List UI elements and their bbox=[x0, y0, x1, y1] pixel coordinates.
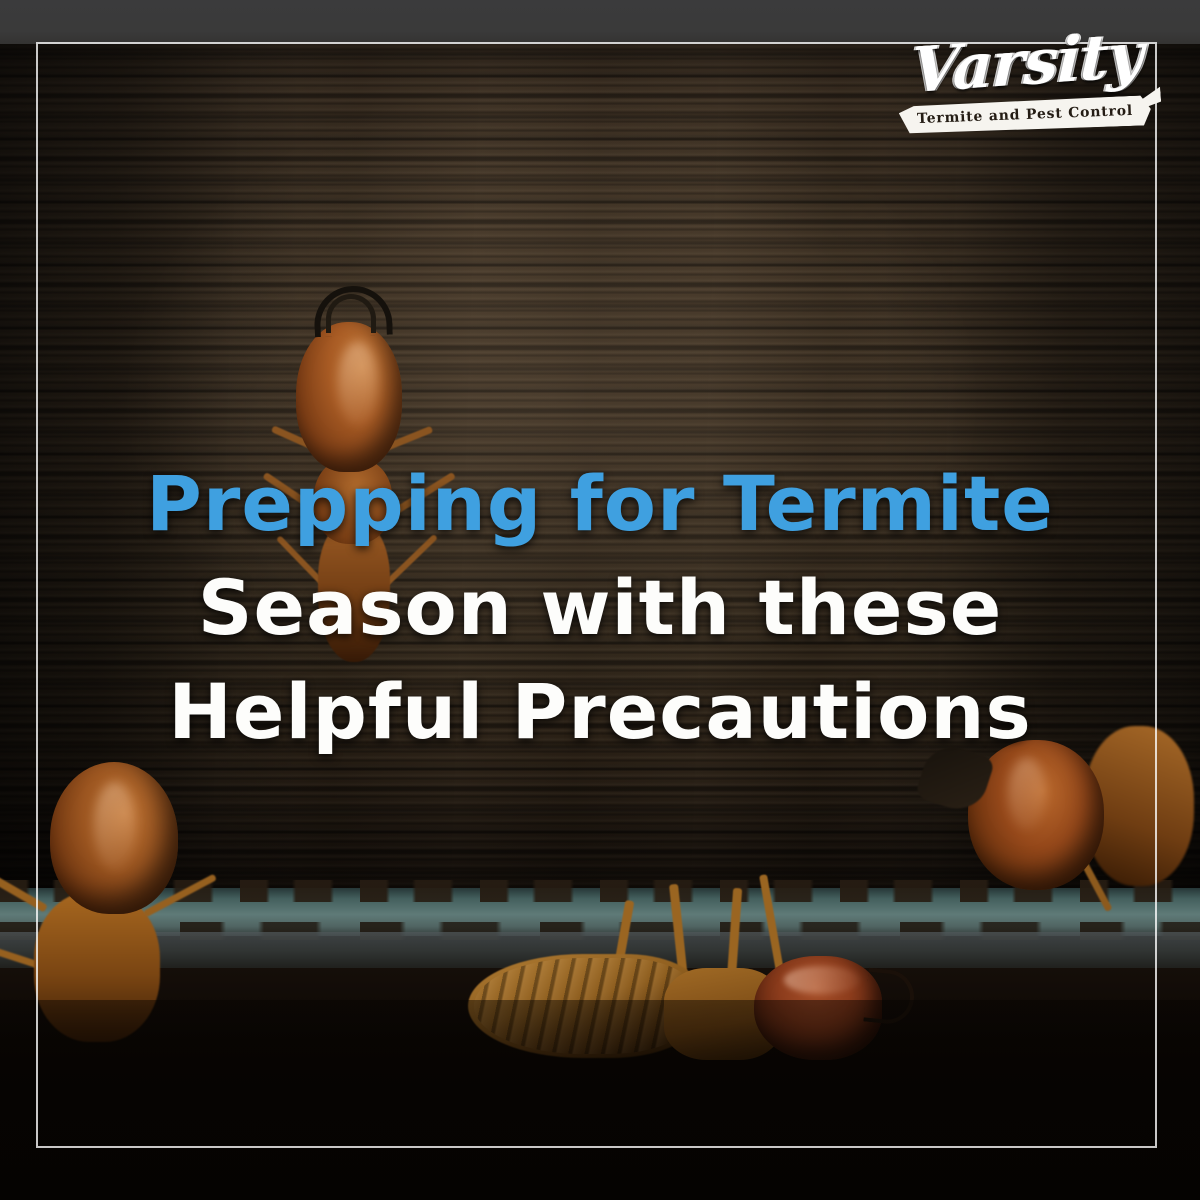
varsity-logo[interactable]: Varsity Termite and Pest Control bbox=[893, 24, 1161, 134]
termite-left bbox=[0, 742, 240, 1042]
bottom-darkening-gradient bbox=[0, 1000, 1200, 1200]
headline-line-1: Prepping for Termite bbox=[60, 452, 1140, 556]
headline-line-2: Season with these bbox=[60, 556, 1140, 660]
termite-right bbox=[908, 726, 1200, 986]
headline-block: Prepping for Termite Season with these H… bbox=[60, 452, 1140, 764]
banner-graphic: Varsity Termite and Pest Control Preppin… bbox=[0, 0, 1200, 1200]
headline-line-3: Helpful Precautions bbox=[60, 660, 1140, 764]
